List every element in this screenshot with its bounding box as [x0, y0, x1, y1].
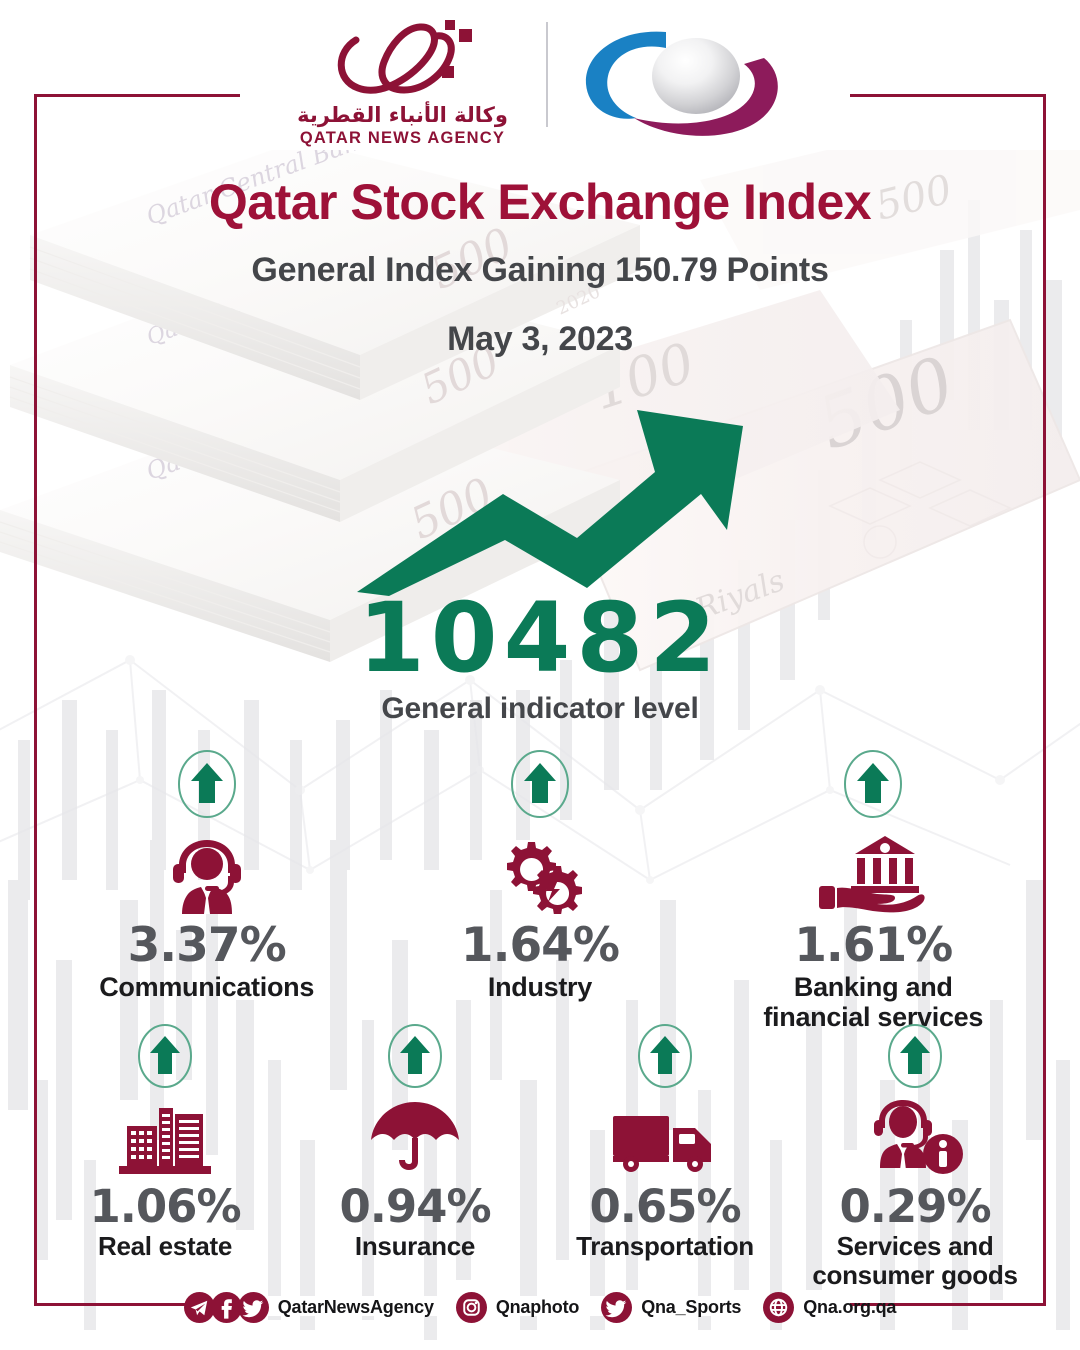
sector-name: Real estate [98, 1232, 232, 1261]
page-subtitle: General Index Gaining 150.79 Points [0, 251, 1080, 290]
sector-card-industry: 1.64% Industry [373, 748, 706, 1016]
sector-percent: 0.29% [839, 1184, 990, 1230]
sector-card-banking: 1.61% Banking andfinancial services [707, 748, 1040, 1016]
qatar-stock-exchange-logo-icon [578, 18, 793, 146]
up-arrow-circle-icon [176, 748, 238, 820]
sector-name: Transportation [576, 1232, 754, 1261]
up-arrow-circle-icon [136, 1022, 194, 1090]
sector-percent: 0.94% [339, 1184, 490, 1230]
buildings-icon [113, 1100, 217, 1176]
sector-row-2: 1.06% Real estate 0.94% Insurance [40, 1022, 1040, 1284]
sector-card-insurance: 0.94% Insurance [290, 1022, 540, 1284]
social-group-instagram: Qnaphoto [456, 1292, 601, 1323]
general-index-value: 10482 [0, 590, 1080, 686]
qna-logo-english-name: QATAR NEWS AGENCY [288, 129, 518, 148]
up-arrow-circle-icon [886, 1022, 944, 1090]
general-index-label: General indicator level [0, 692, 1080, 726]
globe-icon[interactable] [763, 1292, 794, 1323]
heading-block: Qatar Stock Exchange Index General Index… [0, 176, 1080, 359]
qna-logo-arabic-name: وكالة الأنباء القطرية [288, 104, 518, 127]
headset-agent-icon [161, 834, 253, 914]
sector-percent: 3.37% [128, 922, 286, 970]
social-group-website: Qna.org.qa [763, 1292, 896, 1323]
up-arrow-circle-icon [842, 748, 904, 820]
sector-percent: 0.65% [589, 1184, 740, 1230]
sector-name: Industry [488, 972, 592, 1002]
logo-divider [546, 22, 548, 127]
sector-card-transportation: 0.65% Transportation [540, 1022, 790, 1284]
page-title: Qatar Stock Exchange Index [0, 176, 1080, 229]
social-handle-label: Qna_Sports [641, 1297, 741, 1318]
social-handle-label: Qnaphoto [496, 1297, 579, 1318]
up-arrow-circle-icon [386, 1022, 444, 1090]
social-footer: QatarNewsAgency Qnaphoto Qna_Sports [0, 1286, 1080, 1328]
sector-percent: 1.06% [89, 1184, 240, 1230]
sector-name: Communications [99, 972, 314, 1002]
umbrella-icon [369, 1100, 461, 1176]
sector-card-services: 0.29% Services andconsumer goods [790, 1022, 1040, 1284]
social-group-sports: Qna_Sports [601, 1292, 763, 1323]
social-group-main: QatarNewsAgency [184, 1292, 456, 1323]
social-handle-label: QatarNewsAgency [278, 1297, 434, 1318]
sector-name: Services andconsumer goods [812, 1232, 1017, 1290]
logo-row: وكالة الأنباء القطرية QATAR NEWS AGENCY [0, 18, 1080, 168]
up-arrow-circle-icon [509, 748, 571, 820]
hand-holding-bank-icon [819, 834, 927, 914]
sector-card-real-estate: 1.06% Real estate [40, 1022, 290, 1284]
twitter-icon[interactable] [238, 1292, 269, 1323]
report-date: May 3, 2023 [0, 320, 1080, 359]
sector-percent: 1.64% [461, 922, 619, 970]
sector-row-1: 3.37% Communications 1.64% [40, 748, 1040, 1016]
instagram-icon[interactable] [456, 1292, 487, 1323]
agent-info-icon [863, 1100, 967, 1176]
twitter-icon[interactable] [601, 1292, 632, 1323]
gears-icon [494, 834, 586, 914]
social-handle-label: Qna.org.qa [803, 1297, 896, 1318]
sector-name: Insurance [355, 1232, 475, 1261]
sector-percent: 1.61% [794, 922, 952, 970]
up-arrow-circle-icon [636, 1022, 694, 1090]
qna-atom-logo-icon [288, 18, 518, 104]
sector-card-communications: 3.37% Communications [40, 748, 373, 1016]
upward-trend-arrow-icon [355, 398, 745, 598]
delivery-truck-icon [611, 1100, 719, 1176]
general-index-block: 10482 General indicator level [0, 590, 1080, 726]
qna-logo: وكالة الأنباء القطرية QATAR NEWS AGENCY [288, 18, 518, 148]
